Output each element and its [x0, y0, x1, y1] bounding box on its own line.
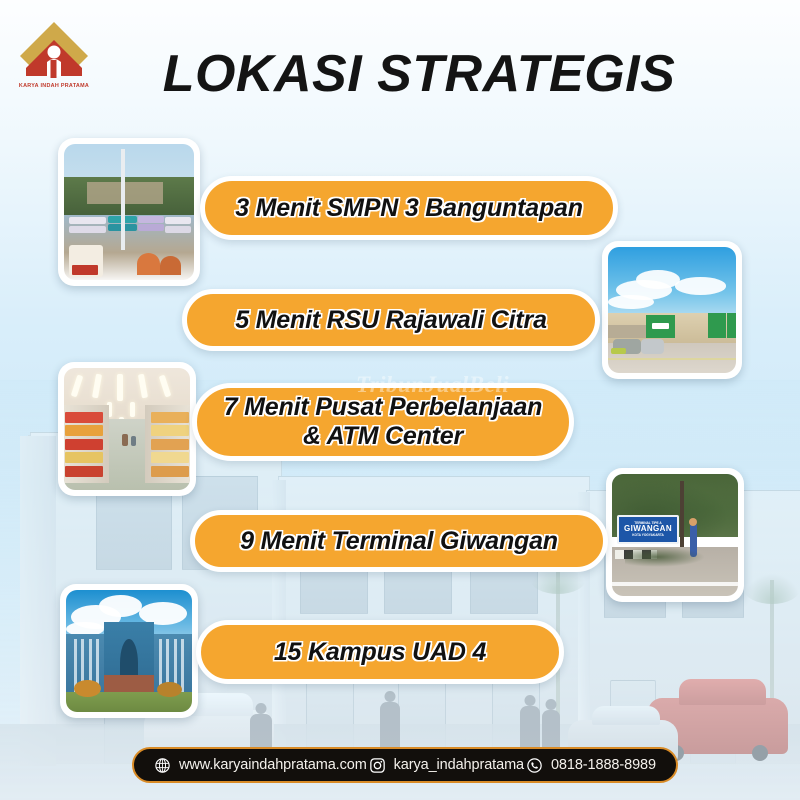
feature-label-3-line1: 7 Menit Pusat Perbelanjaan — [224, 393, 543, 421]
supermarket-aisle-photo — [58, 362, 196, 496]
feature-label-3: 7 Menit Pusat Perbelanjaan & ATM Center — [210, 393, 557, 451]
feature-pill-4[interactable]: 9 Menit Terminal Giwangan — [190, 510, 608, 572]
terminal-giwangan-photo: TERMINAL TIPE A GIWANGAN KOTA YOGYAKARTA — [606, 468, 744, 602]
contact-whatsapp[interactable]: 0818-1888-8989 — [526, 757, 656, 774]
promotional-poster: KARYA INDAH PRATAMA LOKASI STRATEGIS — [0, 0, 800, 800]
hospital-scene — [608, 247, 736, 373]
supermarket-scene — [64, 368, 190, 490]
terminal-sign-line3: KOTA YOGYAKARTA — [632, 534, 664, 537]
contact-website[interactable]: www.karyaindahpratama.com — [154, 757, 367, 774]
contact-website-label: www.karyaindahpratama.com — [179, 757, 367, 773]
globe-icon — [154, 757, 171, 774]
feature-label-2: 5 Menit RSU Rajawali Citra — [221, 306, 561, 335]
whatsapp-icon — [526, 757, 543, 774]
instagram-icon — [369, 757, 386, 774]
contact-instagram-label: karya_indahpratama — [394, 757, 524, 773]
feature-label-5: 15 Kampus UAD 4 — [260, 638, 500, 667]
page-title: LOKASI STRATEGIS — [0, 44, 800, 104]
feature-pill-3[interactable]: 7 Menit Pusat Perbelanjaan & ATM Center — [192, 383, 574, 461]
campus-scene — [66, 590, 192, 712]
campus-uad-photo — [60, 584, 198, 718]
hospital-photo — [602, 241, 742, 379]
feature-pill-1[interactable]: 3 Menit SMPN 3 Banguntapan — [200, 176, 618, 240]
feature-pill-2[interactable]: 5 Menit RSU Rajawali Citra — [182, 289, 600, 351]
feature-label-4: 9 Menit Terminal Giwangan — [226, 527, 572, 556]
contact-instagram[interactable]: karya_indahpratama — [369, 757, 524, 774]
footer-contact-bar: www.karyaindahpratama.com karya_indahpra… — [132, 747, 678, 783]
terminal-scene: TERMINAL TIPE A GIWANGAN KOTA YOGYAKARTA — [612, 474, 738, 596]
feature-label-3-line2: & ATM Center — [303, 422, 463, 450]
terminal-sign: TERMINAL TIPE A GIWANGAN KOTA YOGYAKARTA — [617, 515, 679, 543]
background-pillar — [20, 436, 56, 766]
feature-pill-5[interactable]: 15 Kampus UAD 4 — [196, 620, 564, 684]
school-scene — [64, 144, 194, 280]
school-ceremony-photo — [58, 138, 200, 286]
contact-whatsapp-label: 0818-1888-8989 — [551, 757, 656, 773]
feature-label-1: 3 Menit SMPN 3 Banguntapan — [221, 194, 597, 223]
